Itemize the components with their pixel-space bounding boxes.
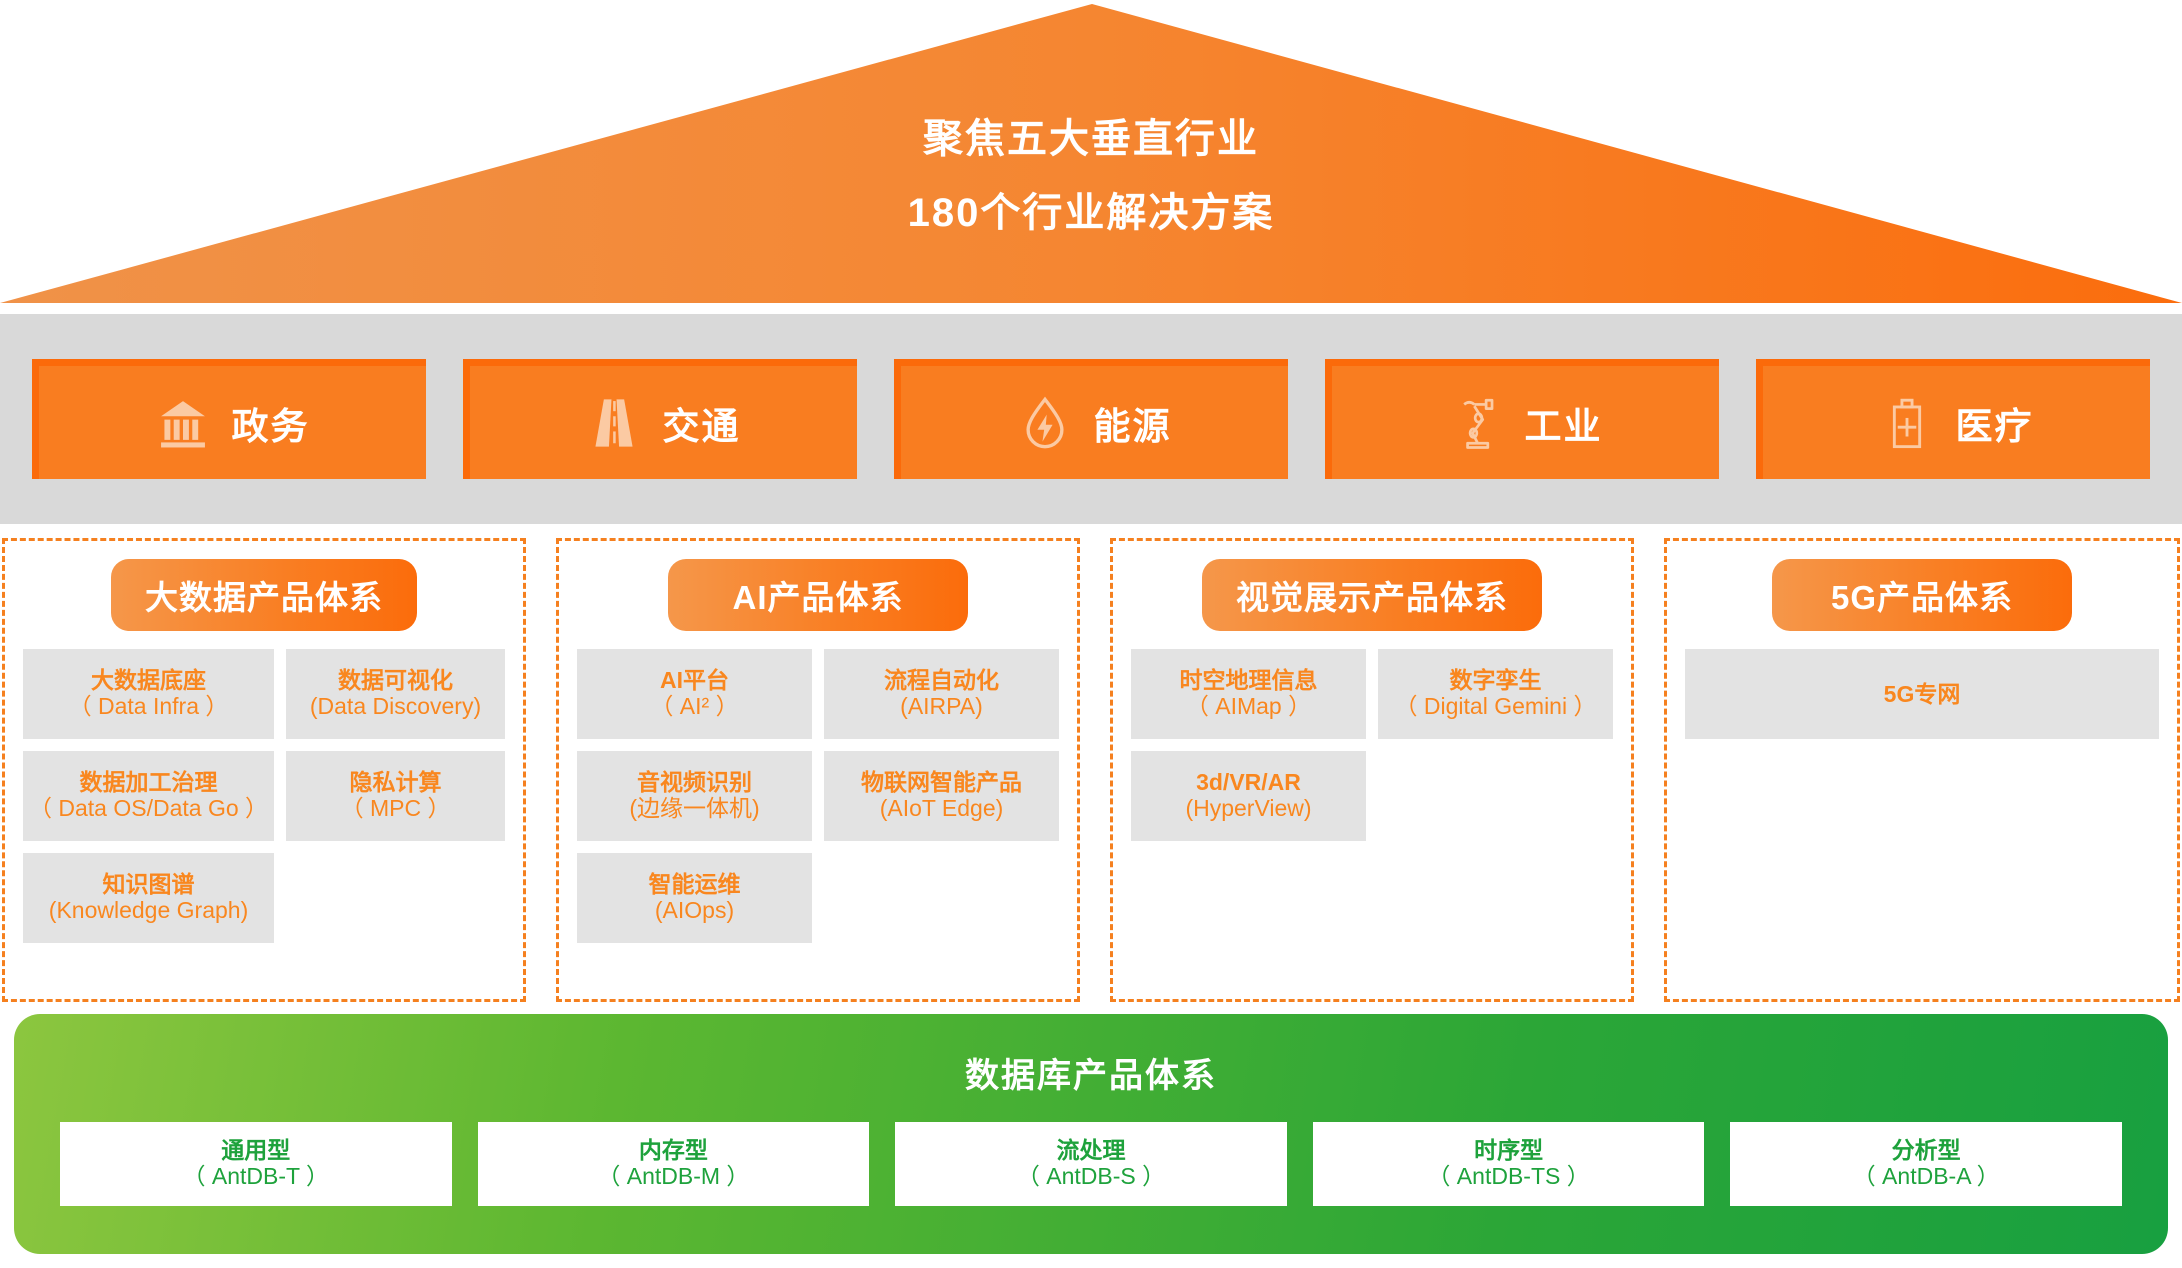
product-column-ai: AI产品体系 AI平台 （ AI² ） 流程自动化 (AIRPA) 音视频识别 … bbox=[556, 538, 1080, 1002]
product-column-visual: 视觉展示产品体系 时空地理信息 （ AIMap ） 数字孪生 （ Digital… bbox=[1110, 538, 1634, 1002]
database-tiles-row: 通用型 （ AntDB-T ） 内存型 （ AntDB-M ） 流处理 （ An… bbox=[60, 1122, 2122, 1206]
product-tile-cn: 隐私计算 bbox=[350, 769, 442, 795]
product-tile-cn: 数据可视化 bbox=[338, 667, 453, 693]
product-column-bigdata: 大数据产品体系 大数据底座 （ Data Infra ） 数据可视化 (Data… bbox=[2, 538, 526, 1002]
product-tile-en: （ Digital Gemini ） bbox=[1395, 693, 1597, 721]
product-tile-en: （ Data OS/Data Go ） bbox=[29, 795, 268, 823]
road-icon bbox=[587, 394, 641, 452]
product-tile-cn: 物联网智能产品 bbox=[861, 769, 1022, 795]
database-tile-cn: 时序型 bbox=[1474, 1137, 1543, 1163]
industry-tile-industry[interactable]: 工业 bbox=[1325, 359, 1719, 479]
database-band-title: 数据库产品体系 bbox=[14, 1048, 2168, 1097]
product-tile-cn: 知识图谱 bbox=[103, 871, 195, 897]
product-tile[interactable]: 隐私计算 （ MPC ） bbox=[286, 751, 505, 841]
database-tile-cn: 内存型 bbox=[639, 1137, 708, 1163]
product-tile-cn: AI平台 bbox=[660, 667, 729, 693]
database-tile[interactable]: 通用型 （ AntDB-T ） bbox=[60, 1122, 452, 1206]
product-tile-cn: 音视频识别 bbox=[637, 769, 752, 795]
industry-label: 工业 bbox=[1525, 396, 1603, 450]
database-tile-en: （ AntDB-M ） bbox=[597, 1163, 749, 1191]
product-tile-grid: 5G专网 bbox=[1685, 649, 2159, 739]
database-tile[interactable]: 分析型 （ AntDB-A ） bbox=[1730, 1122, 2122, 1206]
product-tile-en: (Data Discovery) bbox=[310, 693, 481, 721]
industry-label: 政务 bbox=[232, 396, 310, 450]
product-tile-en: (Knowledge Graph) bbox=[49, 897, 248, 925]
roof-banner: 聚焦五大垂直行业 180个行业解决方案 bbox=[0, 0, 2182, 305]
product-tile-cn: 数字孪生 bbox=[1450, 667, 1542, 693]
product-columns-row: 大数据产品体系 大数据底座 （ Data Infra ） 数据可视化 (Data… bbox=[0, 538, 2182, 1002]
product-tile-placeholder bbox=[824, 853, 1059, 943]
product-tile[interactable]: 时空地理信息 （ AIMap ） bbox=[1131, 649, 1366, 739]
product-tile[interactable]: 音视频识别 (边缘一体机) bbox=[577, 751, 812, 841]
medical-kit-icon bbox=[1880, 394, 1934, 452]
robot-arm-icon bbox=[1449, 394, 1503, 452]
product-column-title-pill: 大数据产品体系 bbox=[111, 559, 417, 631]
product-tile[interactable]: 数据加工治理 （ Data OS/Data Go ） bbox=[23, 751, 274, 841]
product-tile-placeholder bbox=[286, 853, 505, 943]
product-tile-en: (AIRPA) bbox=[900, 693, 983, 721]
industry-label: 交通 bbox=[663, 396, 741, 450]
product-tile[interactable]: 物联网智能产品 (AIoT Edge) bbox=[824, 751, 1059, 841]
product-tile-cn: 时空地理信息 bbox=[1180, 667, 1318, 693]
bank-icon bbox=[156, 394, 210, 452]
roof-title-line1: 聚焦五大垂直行业 bbox=[923, 119, 1259, 159]
database-tile-en: （ AntDB-S ） bbox=[1017, 1163, 1165, 1191]
database-tile-cn: 通用型 bbox=[221, 1137, 290, 1163]
product-tile[interactable]: 知识图谱 (Knowledge Graph) bbox=[23, 853, 274, 943]
product-tile-en: （ AIMap ） bbox=[1186, 693, 1311, 721]
database-tile-en: （ AntDB-A ） bbox=[1853, 1163, 2000, 1191]
roof-title-line2: 180个行业解决方案 bbox=[908, 193, 1275, 233]
database-tile[interactable]: 流处理 （ AntDB-S ） bbox=[895, 1122, 1287, 1206]
product-tile[interactable]: 5G专网 bbox=[1685, 649, 2159, 739]
product-tile[interactable]: 流程自动化 (AIRPA) bbox=[824, 649, 1059, 739]
product-tile-cn: 智能运维 bbox=[649, 871, 741, 897]
industry-label: 能源 bbox=[1094, 396, 1172, 450]
product-tile-cn: 5G专网 bbox=[1884, 681, 1961, 707]
product-tile-cn: 3d/VR/AR bbox=[1196, 769, 1301, 795]
product-tile-en: （ AI² ） bbox=[650, 693, 738, 721]
product-column-title: 视觉展示产品体系 bbox=[1236, 571, 1508, 619]
product-tile-cn: 大数据底座 bbox=[91, 667, 206, 693]
product-tile-en: (AIoT Edge) bbox=[880, 795, 1004, 823]
product-tile[interactable]: 3d/VR/AR (HyperView) bbox=[1131, 751, 1366, 841]
product-tile-en: (边缘一体机) bbox=[629, 795, 759, 823]
database-tile[interactable]: 内存型 （ AntDB-M ） bbox=[478, 1122, 870, 1206]
industry-tile-energy[interactable]: 能源 bbox=[894, 359, 1288, 479]
product-tile-cn: 数据加工治理 bbox=[80, 769, 218, 795]
product-tile-en: (HyperView) bbox=[1185, 795, 1311, 823]
product-tile-grid: AI平台 （ AI² ） 流程自动化 (AIRPA) 音视频识别 (边缘一体机)… bbox=[577, 649, 1059, 943]
industry-tile-government[interactable]: 政务 bbox=[32, 359, 426, 479]
product-tile[interactable]: 数据可视化 (Data Discovery) bbox=[286, 649, 505, 739]
database-tile-en: （ AntDB-TS ） bbox=[1427, 1163, 1589, 1191]
database-tile-en: （ AntDB-T ） bbox=[183, 1163, 330, 1191]
database-tile-cn: 流处理 bbox=[1056, 1137, 1125, 1163]
product-tile-placeholder bbox=[1378, 751, 1613, 841]
product-tile-grid: 时空地理信息 （ AIMap ） 数字孪生 （ Digital Gemini ）… bbox=[1131, 649, 1613, 841]
product-column-title-pill: AI产品体系 bbox=[668, 559, 968, 631]
energy-drop-icon bbox=[1018, 394, 1072, 452]
product-column-title: AI产品体系 bbox=[733, 571, 904, 619]
roof-text-block: 聚焦五大垂直行业 180个行业解决方案 bbox=[0, 0, 2182, 305]
product-column-5g: 5G产品体系 5G专网 bbox=[1664, 538, 2180, 1002]
product-tile[interactable]: 智能运维 (AIOps) bbox=[577, 853, 812, 943]
product-tile[interactable]: 数字孪生 （ Digital Gemini ） bbox=[1378, 649, 1613, 739]
industry-bar: 政务 交通 能源 bbox=[0, 314, 2182, 524]
product-column-title-pill: 视觉展示产品体系 bbox=[1202, 559, 1542, 631]
product-tile-en: （ MPC ） bbox=[341, 795, 451, 823]
product-column-title: 大数据产品体系 bbox=[145, 571, 383, 619]
product-tile[interactable]: 大数据底座 （ Data Infra ） bbox=[23, 649, 274, 739]
product-tile-cn: 流程自动化 bbox=[884, 667, 999, 693]
database-tile-cn: 分析型 bbox=[1892, 1137, 1961, 1163]
industry-tile-transport[interactable]: 交通 bbox=[463, 359, 857, 479]
product-tile-en: (AIOps) bbox=[655, 897, 734, 925]
industry-tile-healthcare[interactable]: 医疗 bbox=[1756, 359, 2150, 479]
industry-label: 医疗 bbox=[1956, 396, 2034, 450]
database-band: 数据库产品体系 通用型 （ AntDB-T ） 内存型 （ AntDB-M ） … bbox=[14, 1014, 2168, 1254]
product-tile-en: （ Data Infra ） bbox=[69, 693, 229, 721]
product-tile-grid: 大数据底座 （ Data Infra ） 数据可视化 (Data Discove… bbox=[23, 649, 505, 943]
database-tile[interactable]: 时序型 （ AntDB-TS ） bbox=[1313, 1122, 1705, 1206]
product-tile[interactable]: AI平台 （ AI² ） bbox=[577, 649, 812, 739]
product-column-title-pill: 5G产品体系 bbox=[1772, 559, 2072, 631]
product-column-title: 5G产品体系 bbox=[1831, 571, 2013, 619]
